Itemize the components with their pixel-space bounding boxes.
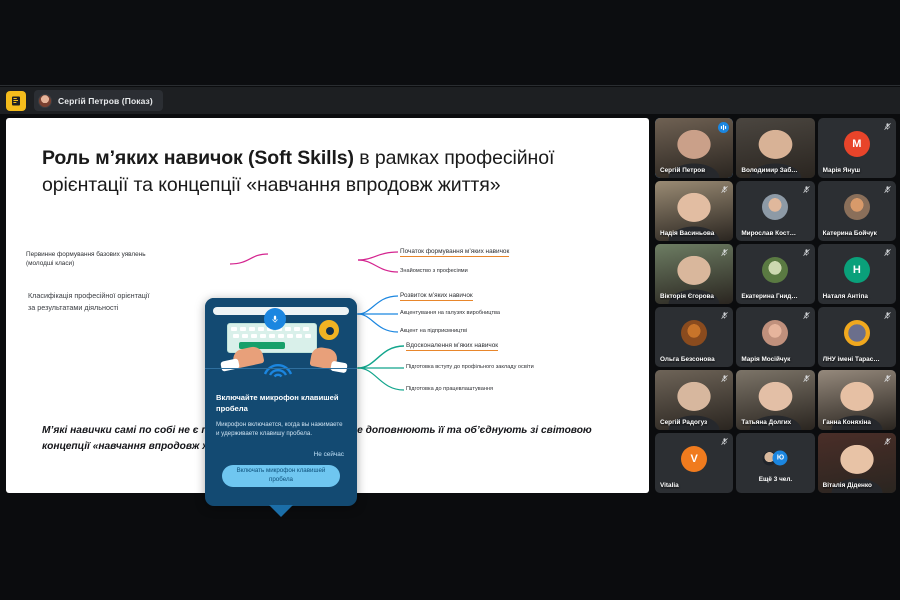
mic-muted-icon bbox=[720, 437, 729, 446]
participant-tile[interactable]: Ганна Коняхіна bbox=[818, 370, 896, 430]
organization-logo bbox=[844, 320, 870, 346]
avatar bbox=[762, 257, 788, 283]
participant-name: Катерина Бойчук bbox=[823, 230, 880, 237]
avatar bbox=[762, 194, 788, 220]
diagram-branch-item: Підготовка вступу до профільного закладу… bbox=[406, 363, 534, 371]
participant-tile[interactable]: Надія Васиньова bbox=[655, 181, 733, 241]
participant-tile[interactable]: Мирослав Косте… bbox=[736, 181, 814, 241]
slide-title: Роль м’яких навичок (Soft Skills) в рамк… bbox=[42, 145, 602, 199]
diagram-branch-item: Знайомство з професіями bbox=[400, 267, 468, 275]
enable-push-to-talk-button[interactable]: Включать микрофон клавишей пробела bbox=[222, 465, 340, 487]
participant-name: ЛНУ імені Тараса… bbox=[823, 356, 880, 363]
microphone-icon bbox=[264, 308, 286, 330]
participant-tile[interactable]: Володимир Забл… bbox=[736, 118, 814, 178]
mic-muted-icon bbox=[883, 374, 892, 383]
diagram-branch-item: Акцентування на галузях виробництва bbox=[400, 309, 500, 317]
cuff-left-shape bbox=[220, 358, 240, 372]
diagram-branch-item: Розвиток м’яких навичок bbox=[400, 291, 473, 300]
avatar-initial: V bbox=[681, 446, 707, 472]
avatar bbox=[681, 320, 707, 346]
mic-muted-icon bbox=[802, 374, 811, 383]
mic-muted-icon bbox=[883, 248, 892, 257]
mic-muted-icon bbox=[720, 248, 729, 257]
overflow-avatars: Ю bbox=[763, 451, 788, 466]
participant-name: Марія Мосійчук bbox=[741, 356, 798, 363]
participants-grid[interactable]: Сергій ПетровВолодимир Забл…MМарія ЯнушН… bbox=[655, 118, 896, 493]
participant-tile[interactable]: ЛНУ імені Тараса… bbox=[818, 307, 896, 367]
participant-tile[interactable]: Сергій Петров bbox=[655, 118, 733, 178]
avatar-initial: M bbox=[844, 131, 870, 157]
avatar bbox=[762, 320, 788, 346]
participant-name: Сергій Петров bbox=[660, 167, 717, 174]
mic-muted-icon bbox=[883, 122, 892, 131]
participant-name: Мирослав Косте… bbox=[741, 230, 798, 237]
dismiss-link[interactable]: Не сейчас bbox=[216, 451, 346, 458]
diagram-branch-item: Підготовка до працевлаштування bbox=[406, 385, 493, 393]
participant-name: Ольга Безсонова bbox=[660, 356, 717, 363]
mic-muted-icon bbox=[883, 185, 892, 194]
participant-tile[interactable]: Ольга Безсонова bbox=[655, 307, 733, 367]
participant-tile[interactable]: VVitalia bbox=[655, 433, 733, 493]
mic-muted-icon bbox=[883, 437, 892, 446]
slide-title-bold: Роль м’яких навичок (Soft Skills) bbox=[42, 147, 354, 169]
mic-muted-icon bbox=[720, 374, 729, 383]
mic-muted-icon bbox=[802, 311, 811, 320]
participant-name: Vitalia bbox=[660, 482, 717, 489]
participant-name: Надія Васиньова bbox=[660, 230, 717, 237]
participant-tile[interactable]: Сергій Радогуз bbox=[655, 370, 733, 430]
diagram-node-1: Первинне формування базових уявлень (мол… bbox=[26, 250, 216, 269]
mic-muted-icon bbox=[720, 185, 729, 194]
lamp-icon bbox=[319, 320, 339, 340]
diagram-branch-item: Початок формування м’яких навичок bbox=[400, 247, 509, 256]
mic-muted-icon bbox=[883, 311, 892, 320]
avatar-initial: Н bbox=[844, 257, 870, 283]
popup-body: Включайте микрофон клавишей пробела Микр… bbox=[205, 382, 357, 496]
meeting-window: Сергій Петров (Показ) Роль м’яких навичо… bbox=[0, 0, 900, 600]
overflow-badge: Ю bbox=[773, 451, 788, 466]
participant-name: Володимир Забл… bbox=[741, 167, 798, 174]
avatar bbox=[844, 194, 870, 220]
participant-name: Марія Януш bbox=[823, 167, 880, 174]
participant-name: Віталія Діденко bbox=[823, 482, 880, 489]
participant-tile[interactable]: Катерина Бойчук bbox=[818, 181, 896, 241]
mic-muted-icon bbox=[802, 248, 811, 257]
participant-name: Ганна Коняхіна bbox=[823, 419, 880, 426]
share-tab-label: Сергій Петров (Показ) bbox=[58, 96, 153, 106]
diagram-branch-item: Вдосконалення м’яких навичок bbox=[406, 341, 498, 350]
participant-name: Вікторія Єгорова bbox=[660, 293, 717, 300]
wifi-waves-icon bbox=[261, 360, 295, 378]
participant-name: Наталя Антіпа bbox=[823, 293, 880, 300]
diagram-left-label: Класифікація професійної орієнтації за р… bbox=[28, 290, 218, 313]
popup-pointer bbox=[269, 505, 293, 517]
participant-name: Сергій Радогуз bbox=[660, 419, 717, 426]
diagram-branch-item: Акцент на підприємництві bbox=[400, 327, 467, 335]
participant-tile[interactable]: Віталія Діденко bbox=[818, 433, 896, 493]
share-tab-bar: Сергій Петров (Показ) bbox=[0, 87, 900, 114]
participant-tile[interactable]: MМарія Януш bbox=[818, 118, 896, 178]
mic-muted-icon bbox=[802, 185, 811, 194]
mic-hint-popup[interactable]: Включайте микрофон клавишей пробела Микр… bbox=[205, 298, 357, 506]
active-share-tab[interactable]: Сергій Петров (Показ) bbox=[34, 90, 163, 111]
participant-tile[interactable]: Екатерина Гнидаш bbox=[736, 244, 814, 304]
cuff-right-shape bbox=[330, 361, 347, 374]
participant-tile[interactable]: Татьяна Долгих bbox=[736, 370, 814, 430]
mic-muted-icon bbox=[720, 311, 729, 320]
avatar bbox=[38, 94, 52, 108]
participant-tile[interactable]: ННаталя Антіпа bbox=[818, 244, 896, 304]
popup-description: Микрофон включается, когда вы нажимаете … bbox=[216, 420, 346, 439]
participant-tile[interactable]: Вікторія Єгорова bbox=[655, 244, 733, 304]
popup-title: Включайте микрофон клавишей пробела bbox=[216, 392, 346, 415]
screen-share-badge-icon[interactable] bbox=[6, 91, 26, 111]
window-top-area bbox=[0, 0, 900, 86]
participant-name: Екатерина Гнидаш bbox=[741, 293, 798, 300]
participant-name: Татьяна Долгих bbox=[741, 419, 798, 426]
overflow-label: Ещё 3 чел. bbox=[736, 476, 814, 483]
participant-tile[interactable]: ЮЕщё 3 чел. bbox=[736, 433, 814, 493]
divider bbox=[205, 368, 357, 369]
popup-illustration bbox=[205, 298, 357, 382]
participant-tile[interactable]: Марія Мосійчук bbox=[736, 307, 814, 367]
